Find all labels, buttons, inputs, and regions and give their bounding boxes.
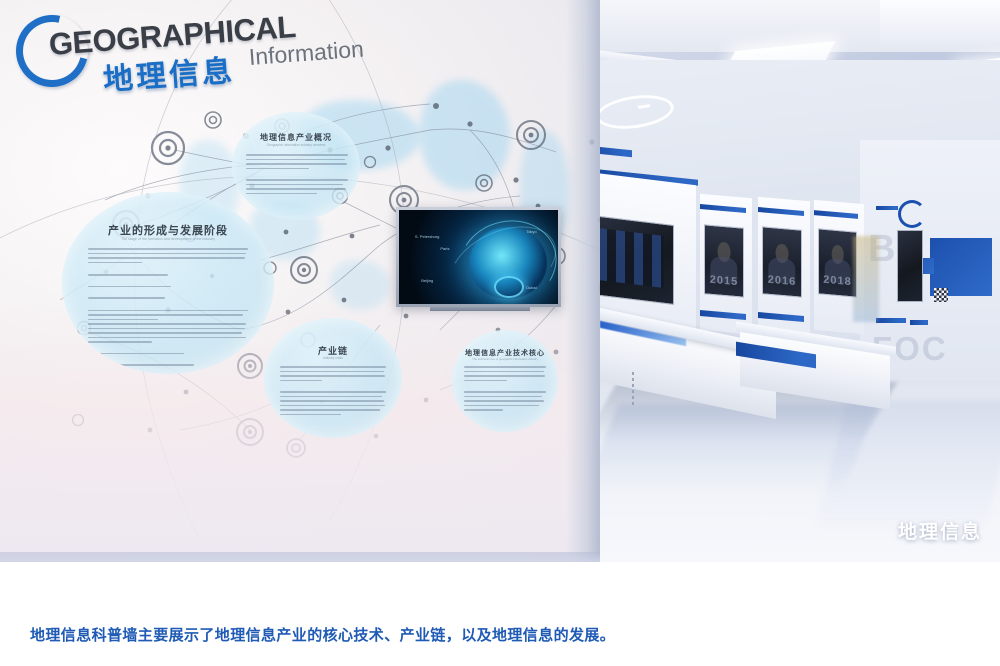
info-bubble-industry-overview[interactable]: 地理信息产业概况 Geographic information industry… — [232, 112, 360, 220]
far-wall-map-graphic — [853, 236, 879, 322]
portrait-year: 2018 — [819, 274, 856, 289]
tv-label: S. Petersburg — [415, 234, 439, 239]
tv-label: Paris — [440, 246, 449, 251]
watermark-label: 地理信息 — [898, 517, 982, 544]
wall-right-edge — [566, 0, 600, 562]
far-wall-accent-stripe — [876, 318, 906, 323]
bubble-subtitle: The technical core of geographic informa… — [452, 357, 558, 361]
portrait-year: 2016 — [763, 273, 801, 288]
info-bubble-technology-core[interactable]: 地理信息产业技术核心 The technical core of geograp… — [452, 330, 558, 432]
counter-dotted-seam — [632, 372, 634, 406]
portrait-year: 2015 — [705, 273, 743, 288]
screen-left-content — [598, 228, 664, 288]
far-wall-accent-stripe — [910, 320, 928, 325]
tv-label: Beijing — [421, 278, 433, 283]
globe-pulse-ring — [494, 276, 524, 298]
tv-label: Dubai — [526, 285, 536, 290]
bubble-body-text — [246, 154, 348, 197]
kiosk-vertical-screen[interactable] — [897, 230, 923, 302]
portrait-panel[interactable]: 2016 — [762, 226, 802, 297]
bubble-title: 产业的形成与发展阶段 — [62, 222, 274, 238]
tv-label: Tokyo — [526, 229, 536, 234]
far-wall-ring-icon — [898, 200, 926, 228]
portrait-panel[interactable]: 2018 — [818, 228, 857, 297]
tv-display[interactable]: S. Petersburg Paris Beijing Tokyo Dubai — [396, 207, 561, 307]
wall-base-line — [0, 552, 600, 562]
bubble-subtitle: Geographic information industry overview — [232, 143, 360, 147]
bubble-body-text — [464, 366, 546, 414]
bubble-body-text — [88, 248, 248, 374]
page-root: BU FOC 2015 2016 2018 — [0, 0, 1000, 666]
exhibition-photo: BU FOC 2015 2016 2018 — [0, 0, 1000, 562]
bubble-body-text — [280, 366, 386, 418]
portrait-panel[interactable]: 2015 — [704, 224, 744, 297]
bubble-subtitle: The stage of the formation and developme… — [62, 237, 274, 241]
logo-chinese-title: 地理信息 — [101, 46, 236, 99]
bubble-subtitle: Industry chain — [264, 356, 402, 360]
ceiling-soffit — [880, 0, 1000, 44]
qr-code-icon — [934, 288, 948, 302]
info-bubble-formation-development[interactable]: 产业的形成与发展阶段 The stage of the formation an… — [62, 192, 274, 374]
tv-stand — [430, 307, 530, 311]
caption-text: 地理信息科普墙主要展示了地理信息产业的核心技术、产业链，以及地理信息的发展。 — [30, 624, 615, 645]
tv-screen: S. Petersburg Paris Beijing Tokyo Dubai — [399, 210, 558, 304]
bubble-title: 地理信息产业概况 — [232, 132, 360, 143]
far-wall-accent-stripe — [876, 206, 898, 210]
info-bubble-industry-chain[interactable]: 产业链 Industry chain — [264, 318, 402, 438]
